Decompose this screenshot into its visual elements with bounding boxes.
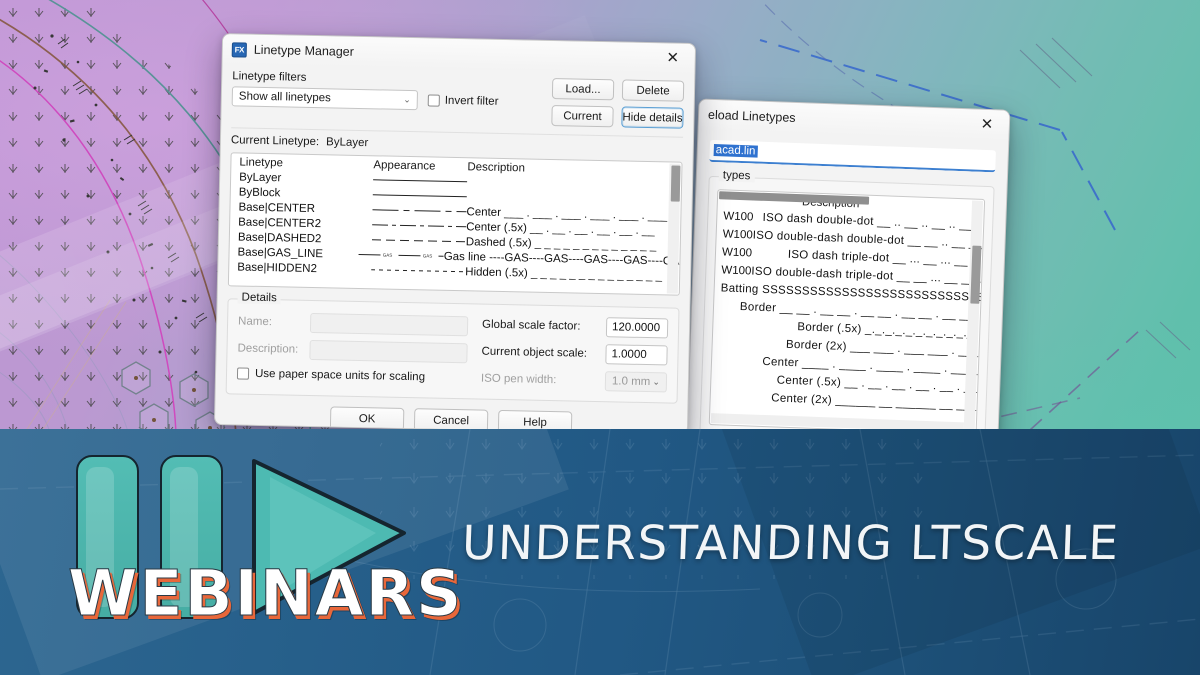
load-dialog-title: eload Linetypes (708, 108, 796, 125)
invert-filter-checkbox[interactable] (428, 94, 440, 106)
linetype-rows-container: ByLayerByBlockBase|CENTERCenter ___ . __… (229, 169, 681, 283)
linetype-name: ByLayer (239, 171, 373, 186)
available-linetypes-label: types (719, 169, 755, 182)
close-icon[interactable]: ✕ (966, 109, 1007, 138)
fx-app-icon: FX (232, 42, 247, 57)
load-linetype-name: W100 (722, 246, 788, 260)
load-linetype-name (719, 324, 797, 327)
iso-pen-width-select[interactable]: 1.0 mm ⌄ (605, 371, 667, 392)
linetype-appearance (373, 190, 467, 202)
paper-space-units-checkbox[interactable] (237, 367, 249, 379)
available-linetypes-list[interactable]: Description W100ISO dash double-dot __ .… (709, 189, 985, 435)
linetype-manager-dialog[interactable]: FX Linetype Manager ✕ Linetype filters S… (214, 33, 696, 435)
column-description: Description (467, 161, 525, 174)
global-scale-value: 120.0000 (612, 321, 660, 334)
linetype-filter-select[interactable]: Show all linetypes ⌄ (232, 86, 418, 110)
load-linetype-name: W100 (722, 228, 752, 241)
hide-details-button[interactable]: Hide details (621, 106, 683, 128)
object-scale-value: 1.0000 (611, 348, 646, 361)
object-scale-label: Current object scale: (481, 346, 587, 360)
current-linetype-label: Current Linetype: (231, 134, 319, 148)
load-linetypes-dialog[interactable]: eload Linetypes ✕ acad.lin types Descrip… (686, 98, 1011, 467)
load-button[interactable]: Load... (552, 78, 614, 100)
object-scale-input[interactable]: 1.0000 (605, 344, 667, 365)
load-linetype-name: W100 (723, 210, 763, 223)
delete-button[interactable]: Delete (622, 79, 684, 101)
chevron-down-icon: ⌄ (403, 94, 411, 105)
linetype-list-scroll-thumb[interactable] (671, 166, 681, 202)
invert-filter-label: Invert filter (445, 95, 499, 108)
close-icon[interactable]: ✕ (652, 43, 693, 72)
linetype-manager-title: Linetype Manager (254, 43, 354, 59)
linetype-file-input[interactable]: acad.lin (709, 140, 996, 172)
paper-space-units-label: Use paper space units for scaling (255, 368, 425, 384)
linetype-appearance: GASGAS (359, 249, 444, 261)
load-linetype-name (717, 378, 776, 380)
detail-name-label: Name: (238, 315, 302, 328)
details-label: Details (237, 291, 280, 304)
global-scale-input[interactable]: 120.0000 (606, 317, 668, 338)
load-linetype-name (720, 306, 740, 307)
page-title: UNDERSTANDING LTSCALE (461, 516, 1120, 571)
current-button[interactable]: Current (551, 105, 613, 127)
load-linetype-name (717, 396, 771, 398)
linetype-name: Base|CENTER (238, 201, 372, 216)
linetype-filters-label: Linetype filters (232, 70, 552, 89)
iso-pen-width-value: 1.0 mm (612, 375, 651, 388)
load-linetype-name (719, 342, 786, 344)
linetype-name: Base|DASHED2 (238, 231, 372, 246)
chevron-down-icon: ⌄ (652, 377, 660, 388)
details-group: Details Name: Description: (226, 298, 680, 403)
linetype-list[interactable]: Linetype Appearance Description ByLayerB… (228, 152, 683, 295)
linetype-appearance (372, 235, 466, 247)
linetype-file-value: acad.lin (714, 144, 758, 158)
ok-button[interactable]: OK (330, 406, 404, 431)
current-linetype-value: ByLayer (326, 136, 368, 149)
linetype-appearance (371, 265, 465, 277)
iso-pen-width-label: ISO pen width: (481, 373, 557, 387)
linetype-name: Base|CENTER2 (238, 216, 372, 231)
webinars-wordmark: WEBINARS (68, 557, 463, 630)
webinars-logo: WEBINARS (62, 447, 462, 632)
linetype-description: Hidden (.5x) _ _ _ _ _ _ _ _ _ _ _ _ _ _ (465, 266, 662, 282)
linetype-name: Base|HIDDEN2 (237, 261, 371, 276)
detail-name-input[interactable] (310, 313, 468, 336)
linetype-appearance (372, 205, 466, 217)
load-rows-container: W100ISO dash double-dot __ .. __ .. __ .… (710, 207, 983, 415)
linetype-appearance (372, 220, 466, 232)
current-linetype-row: Current Linetype: ByLayer (231, 134, 683, 155)
load-linetype-name (718, 360, 762, 362)
gas-line-labels: GASGAS (359, 249, 444, 261)
load-linetype-name: W100 (721, 264, 751, 277)
linetype-name: Base|GAS_LINE (237, 246, 358, 261)
detail-description-label: Description: (237, 342, 301, 355)
linetype-appearance (373, 175, 467, 187)
linetype-filter-value: Show all linetypes (239, 90, 331, 104)
screenshot-root: eload Linetypes ✕ acad.lin types Descrip… (0, 0, 1200, 675)
available-linetypes-group: types Description W100ISO dash double-do… (699, 176, 994, 444)
column-appearance: Appearance (373, 159, 467, 173)
detail-description-input[interactable] (309, 340, 467, 363)
global-scale-label: Global scale factor: (482, 319, 581, 333)
load-linetype-description: Center (2x) ______ __ ______ __ ___ (771, 392, 977, 412)
linetype-name: ByBlock (239, 186, 373, 201)
